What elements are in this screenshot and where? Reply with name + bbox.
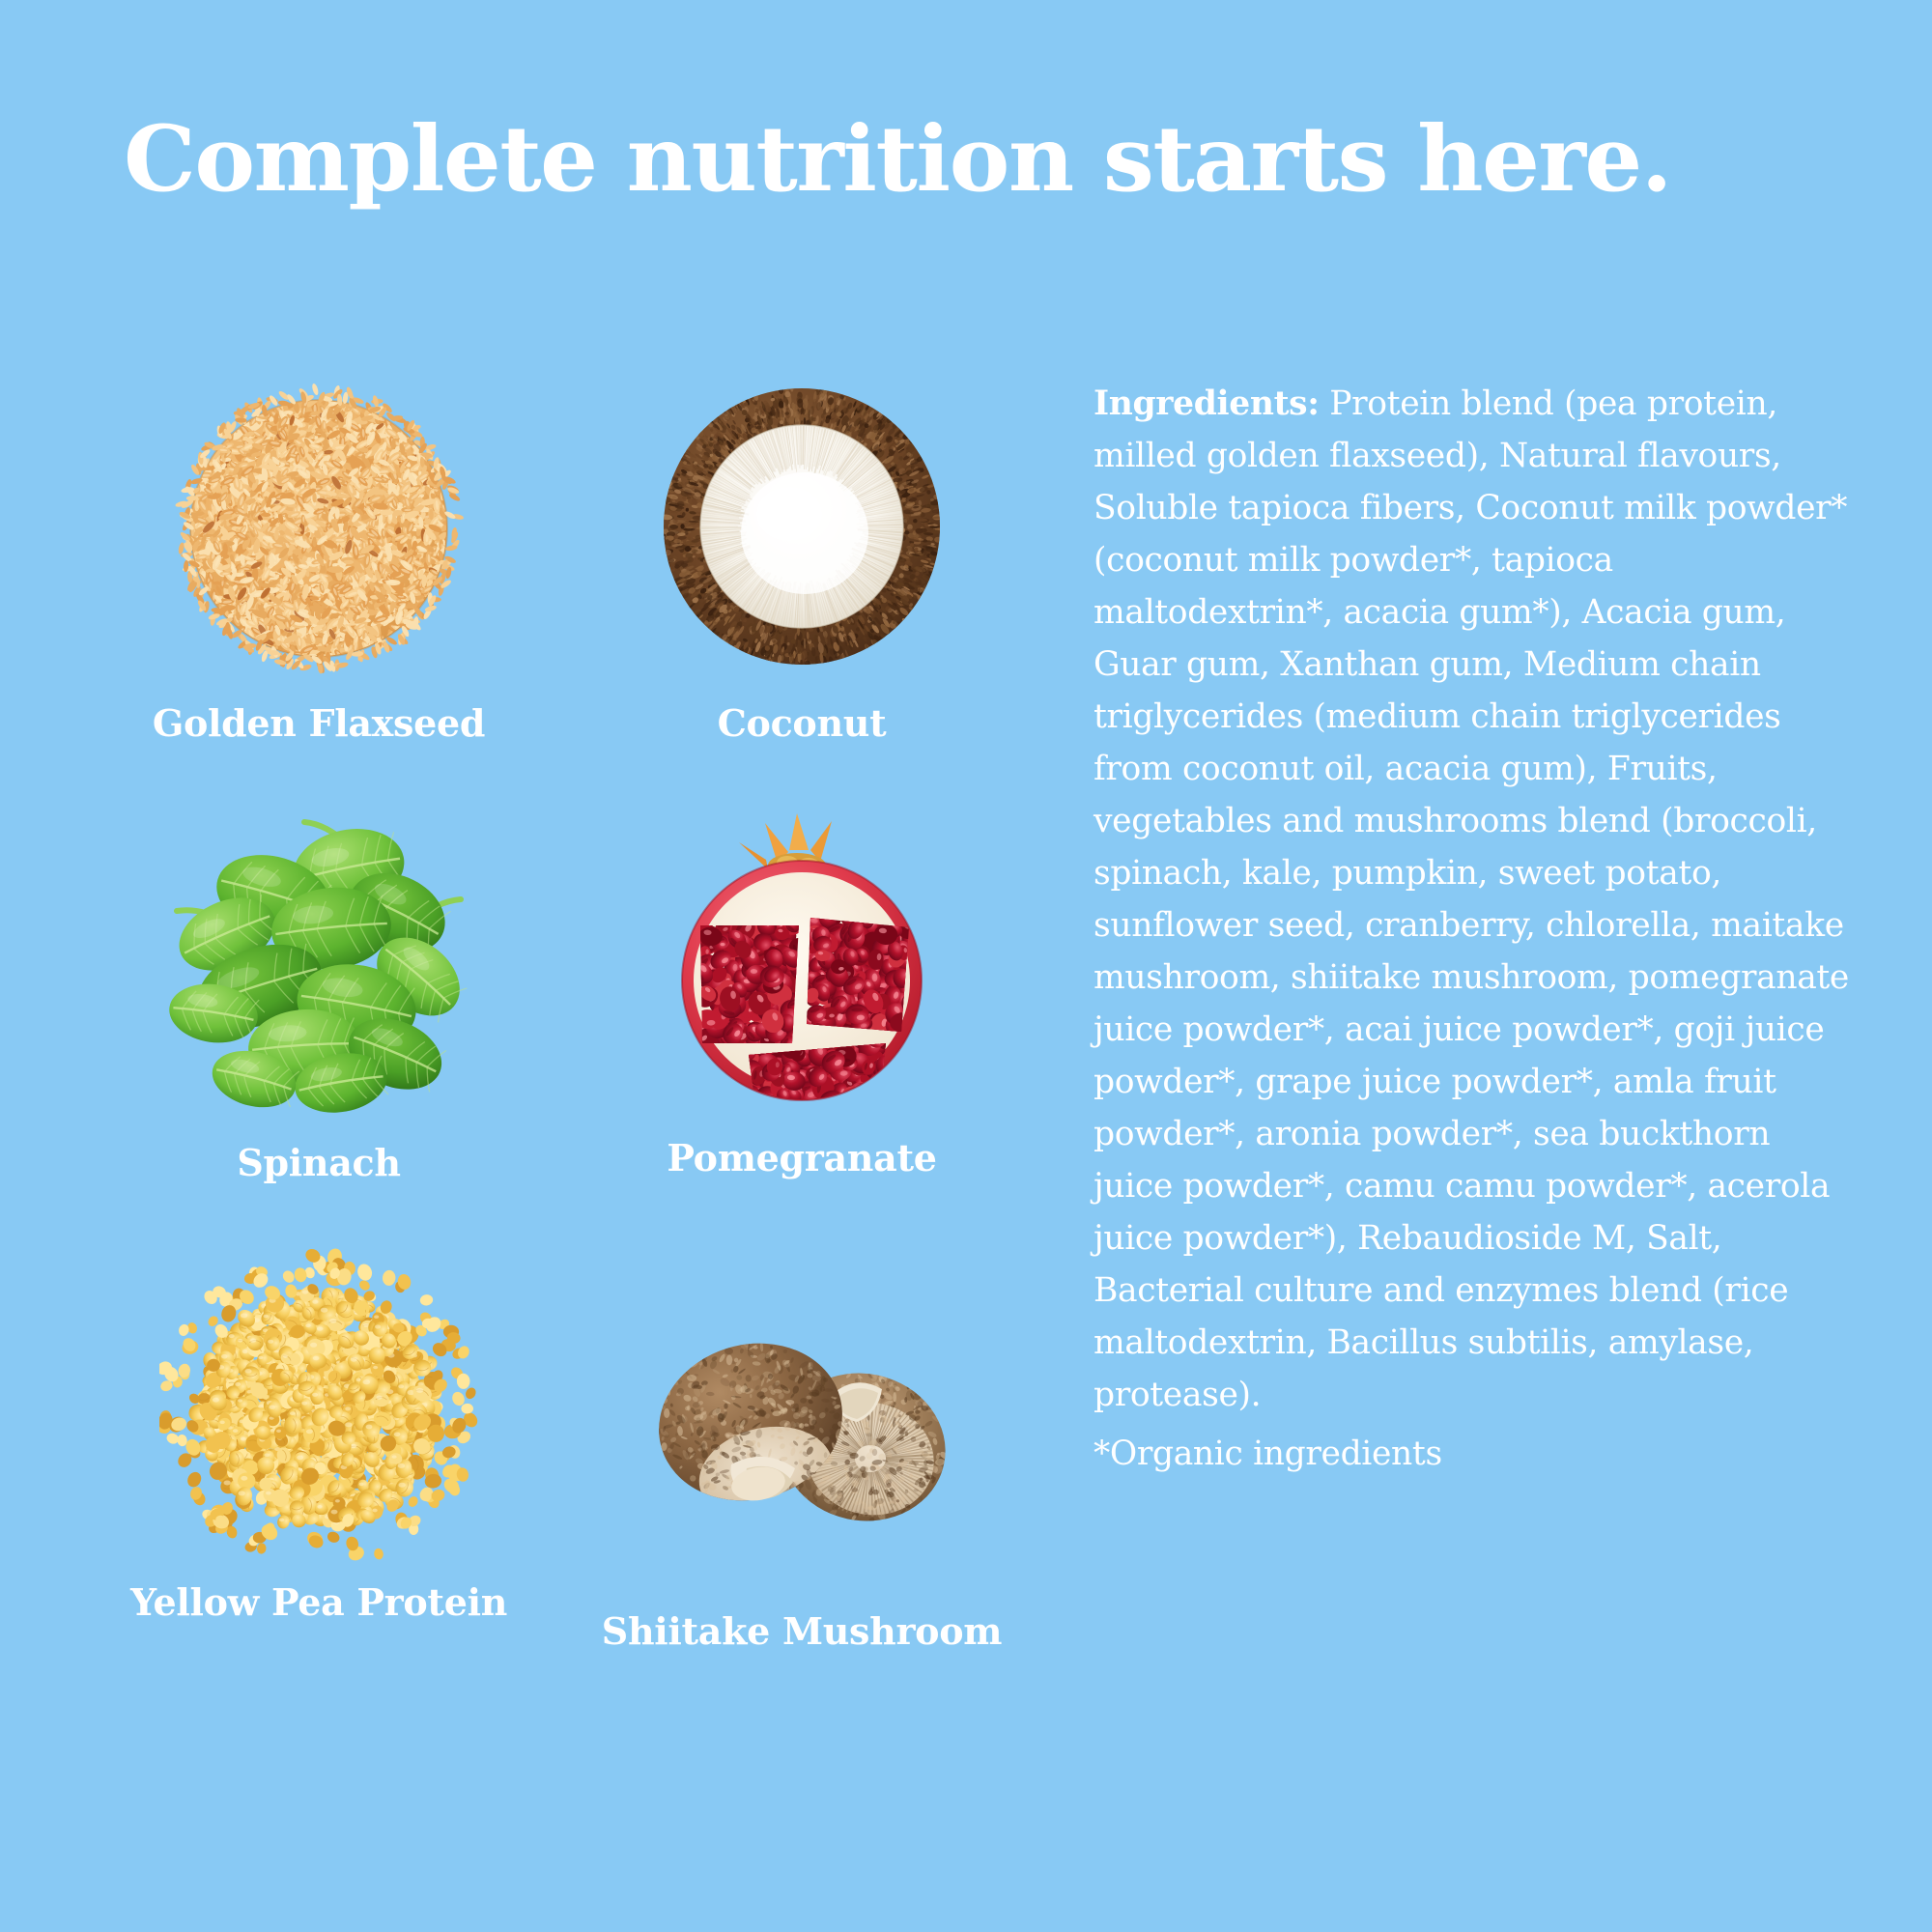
ingredients-body: Protein blend (pea protein, milled golde… (1094, 384, 1849, 1414)
shiitake-mushrooms-photo (642, 1275, 961, 1594)
infographic-page: Complete nutrition starts here. (0, 0, 1932, 1932)
ingredients-label: Ingredients: (1094, 384, 1320, 423)
ingredients-panel: Ingredients: Protein blend (pea protein,… (1094, 379, 1857, 1481)
golden-flaxseed-photo (159, 367, 478, 686)
ingredient-card-coconut: Coconut (560, 367, 1043, 802)
ingredient-label-spinach: Spinach (77, 1143, 560, 1183)
ingredient-label-pomegranate: Pomegranate (560, 1138, 1043, 1179)
ingredient-card-golden-flaxseed: Golden Flaxseed (77, 367, 560, 802)
pomegranate-half-photo (642, 802, 961, 1121)
spinach-leaves-photo (159, 807, 478, 1125)
ingredient-label-yellow-pea-protein: Yellow Pea Protein (77, 1582, 560, 1623)
yellow-split-peas-photo (159, 1246, 478, 1565)
ingredient-label-coconut: Coconut (560, 703, 1043, 744)
coconut-half-photo (642, 367, 961, 686)
ingredient-card-yellow-pea-protein: Yellow Pea Protein (77, 1246, 560, 1681)
ingredient-label-shiitake-mushroom: Shiitake Mushroom (560, 1611, 1043, 1652)
ingredient-card-shiitake-mushroom: Shiitake Mushroom (560, 1275, 1043, 1710)
ingredient-card-pomegranate: Pomegranate (560, 802, 1043, 1236)
ingredient-card-spinach: Spinach (77, 807, 560, 1241)
ingredient-label-golden-flaxseed: Golden Flaxseed (77, 703, 560, 744)
organic-footnote: *Organic ingredients (1094, 1429, 1857, 1481)
ingredient-grid: Golden Flaxseed (58, 367, 1043, 1700)
page-title: Complete nutrition starts here. (124, 114, 1824, 205)
